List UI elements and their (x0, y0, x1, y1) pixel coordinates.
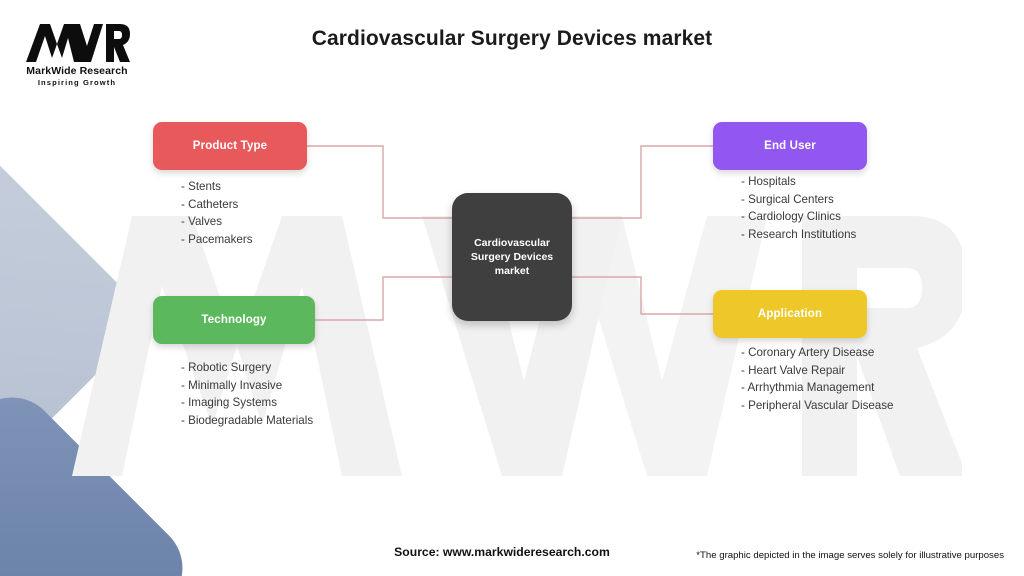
center-node-label: Cardiovascular Surgery Devices market (465, 236, 559, 279)
list-item: - Surgical Centers (741, 191, 856, 209)
list-item: - Pacemakers (181, 231, 253, 249)
branch-label-technology: Technology (201, 314, 266, 326)
source-text: Source: www.markwideresearch.com (394, 545, 610, 559)
list-item: - Arrhythmia Management (741, 379, 894, 397)
list-item: - Imaging Systems (181, 394, 313, 412)
branch-items-end-user: - Hospitals - Surgical Centers - Cardiol… (741, 173, 856, 244)
branch-items-technology: - Robotic Surgery - Minimally Invasive -… (181, 359, 313, 430)
center-node-line-2: Surgery Devices (471, 251, 553, 263)
list-item: - Peripheral Vascular Disease (741, 397, 894, 415)
center-node[interactable]: Cardiovascular Surgery Devices market (452, 193, 572, 321)
center-node-line-1: Cardiovascular (474, 237, 550, 249)
list-item: - Heart Valve Repair (741, 362, 894, 380)
list-item: - Robotic Surgery (181, 359, 313, 377)
brand-tagline: Inspiring Growth (14, 79, 140, 87)
list-item: - Coronary Artery Disease (741, 344, 894, 362)
list-item: - Biodegradable Materials (181, 412, 313, 430)
list-item: - Stents (181, 178, 253, 196)
list-item: - Valves (181, 213, 253, 231)
branch-items-application: - Coronary Artery Disease - Heart Valve … (741, 344, 894, 415)
list-item: - Minimally Invasive (181, 377, 313, 395)
branch-label-product-type: Product Type (193, 140, 267, 152)
list-item: - Cardiology Clinics (741, 208, 856, 226)
branch-label-end-user: End User (764, 140, 816, 152)
branch-node-application[interactable]: Application (713, 290, 867, 338)
list-item: - Research Institutions (741, 226, 856, 244)
list-item: - Hospitals (741, 173, 856, 191)
branch-node-product-type[interactable]: Product Type (153, 122, 307, 170)
branch-label-application: Application (758, 308, 822, 320)
disclaimer-text: *The graphic depicted in the image serve… (696, 550, 1004, 561)
decorative-shape-light (0, 126, 152, 511)
branch-node-end-user[interactable]: End User (713, 122, 867, 170)
branch-node-technology[interactable]: Technology (153, 296, 315, 344)
infographic-canvas: MarkWide Research Inspiring Growth Cardi… (0, 0, 1024, 576)
branch-items-product-type: - Stents - Catheters - Valves - Pacemake… (181, 178, 253, 249)
list-item: - Catheters (181, 196, 253, 214)
brand-name: MarkWide Research (14, 66, 140, 77)
center-node-line-3: market (495, 265, 529, 277)
page-title: Cardiovascular Surgery Devices market (0, 27, 1024, 51)
